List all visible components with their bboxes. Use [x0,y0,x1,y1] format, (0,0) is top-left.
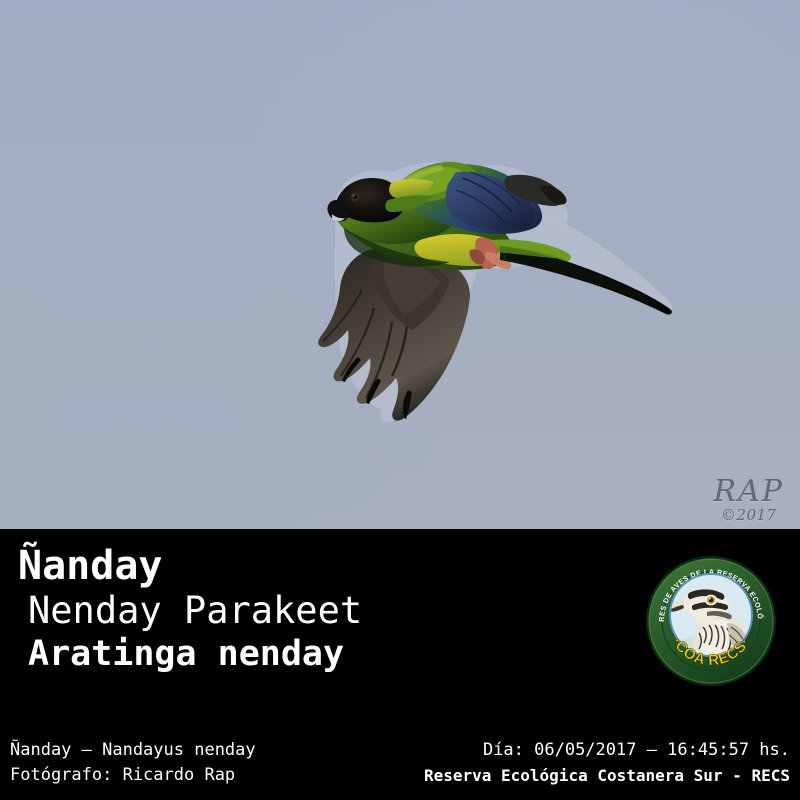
scientific-name: Aratinga nenday [28,633,362,675]
footer-location-line: Reserva Ecológica Costanera Sur - RECS [424,763,790,788]
footer-date-line: Día: 06/05/2017 – 16:45:57 hs. [424,738,790,763]
footer-left: Ñanday – Nandayus nenday Fotógrafo: Rica… [10,738,256,788]
common-name: Ñanday [18,543,362,589]
photo-card: RAP ©2017 Ñanday Nenday Parakeet Arating… [0,0,800,800]
photographer-watermark: RAP ©2017 [714,477,784,523]
caption-band: Ñanday Nenday Parakeet Aratinga nenday [0,529,800,800]
species-names: Ñanday Nenday Parakeet Aratinga nenday [18,543,362,675]
nanday-parakeet-bird [0,0,800,529]
footer-right: Día: 06/05/2017 – 16:45:57 hs. Reserva E… [424,738,790,788]
watermark-copyright: ©2017 [714,508,784,523]
english-name: Nenday Parakeet [28,589,362,633]
watermark-initials: RAP [714,477,784,507]
coa-recs-logo: CLUB DE OBSERVADORES DE AVES DE LA RESER… [645,555,777,687]
footer-species-line: Ñanday – Nandayus nenday [10,738,256,763]
photograph: RAP ©2017 [0,0,800,529]
footer-photographer-line: Fotógrafo: Ricardo Rap [10,763,256,788]
